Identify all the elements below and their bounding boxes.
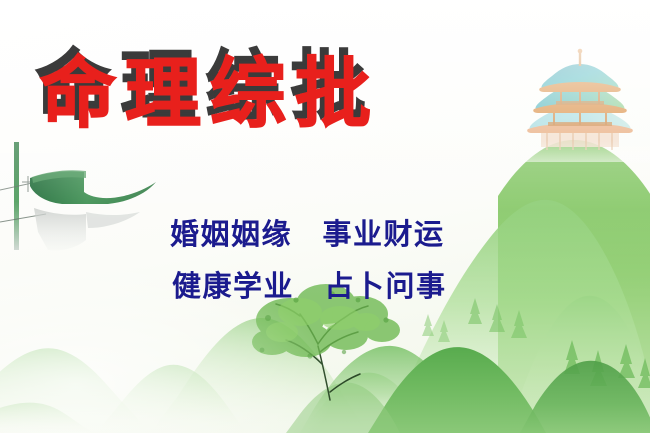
pagoda-pillars-lower <box>547 133 612 150</box>
pine-cluster-right <box>564 340 650 388</box>
foreground-mountain-c <box>286 382 400 433</box>
boat-deck <box>32 170 86 183</box>
mid-mountain-center <box>300 346 476 433</box>
tree-branches <box>276 304 368 400</box>
pagoda-railing-middle <box>548 122 612 126</box>
main-title: 命理综批 命理综批 <box>40 44 440 152</box>
subtitle-line-2: 健康学业 占卜问事 <box>170 260 500 312</box>
pagoda-finial-bead <box>578 49 583 54</box>
main-title-text: 命理综批 <box>40 44 440 144</box>
pagoda-pillars-upper <box>561 92 599 104</box>
pagoda-illustration <box>527 49 633 150</box>
far-hill-left-a <box>0 348 150 433</box>
boat-mast <box>14 142 19 250</box>
pagoda-roof-lower <box>529 106 630 130</box>
pagoda-roof-middle <box>535 85 624 110</box>
boat-spars <box>0 176 46 222</box>
poster-canvas: 命理综批 命理综批 婚姻姻缘 事业财运 健康学业 占卜问事 <box>0 0 650 433</box>
boat-reflection <box>34 208 86 251</box>
far-hill-center-c <box>300 373 432 433</box>
far-hill-left-b <box>0 403 96 433</box>
foreground-mountain-a <box>368 347 546 433</box>
pagoda-eave-lower <box>527 123 633 133</box>
pagoda-hill <box>498 140 650 433</box>
pagoda-roof-upper <box>541 64 618 89</box>
far-hill-center-b <box>96 365 248 433</box>
pagoda-railing-upper <box>556 101 604 105</box>
pine-cluster-small-left <box>422 314 450 342</box>
boat-reflection-tail <box>86 212 140 228</box>
subtitle-line-1: 婚姻姻缘 事业财运 <box>170 208 500 260</box>
pagoda-eave-middle <box>533 103 627 113</box>
boat-illustration <box>0 142 156 251</box>
pagoda-base-mist <box>520 140 650 162</box>
pagoda-pillars-middle <box>554 113 606 125</box>
pagoda-eave-upper <box>539 82 621 92</box>
far-hill-center-a <box>150 318 368 433</box>
boat-hull <box>30 171 156 204</box>
subtitle-block: 婚姻姻缘 事业财运 健康学业 占卜问事 <box>170 208 500 312</box>
mid-mountain-right <box>508 296 650 433</box>
foreground-mountain-b <box>520 361 650 433</box>
pagoda-body-lower <box>541 133 619 147</box>
